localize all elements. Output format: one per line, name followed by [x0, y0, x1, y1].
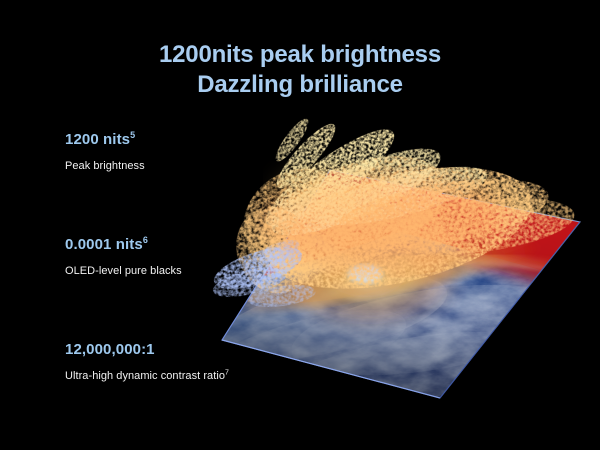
tilted-display-panel	[0, 0, 600, 450]
panel-face	[180, 150, 600, 428]
promo-slide: 1200nits peak brightness Dazzling brilli…	[0, 0, 600, 450]
display-panel-graphic	[0, 0, 600, 450]
